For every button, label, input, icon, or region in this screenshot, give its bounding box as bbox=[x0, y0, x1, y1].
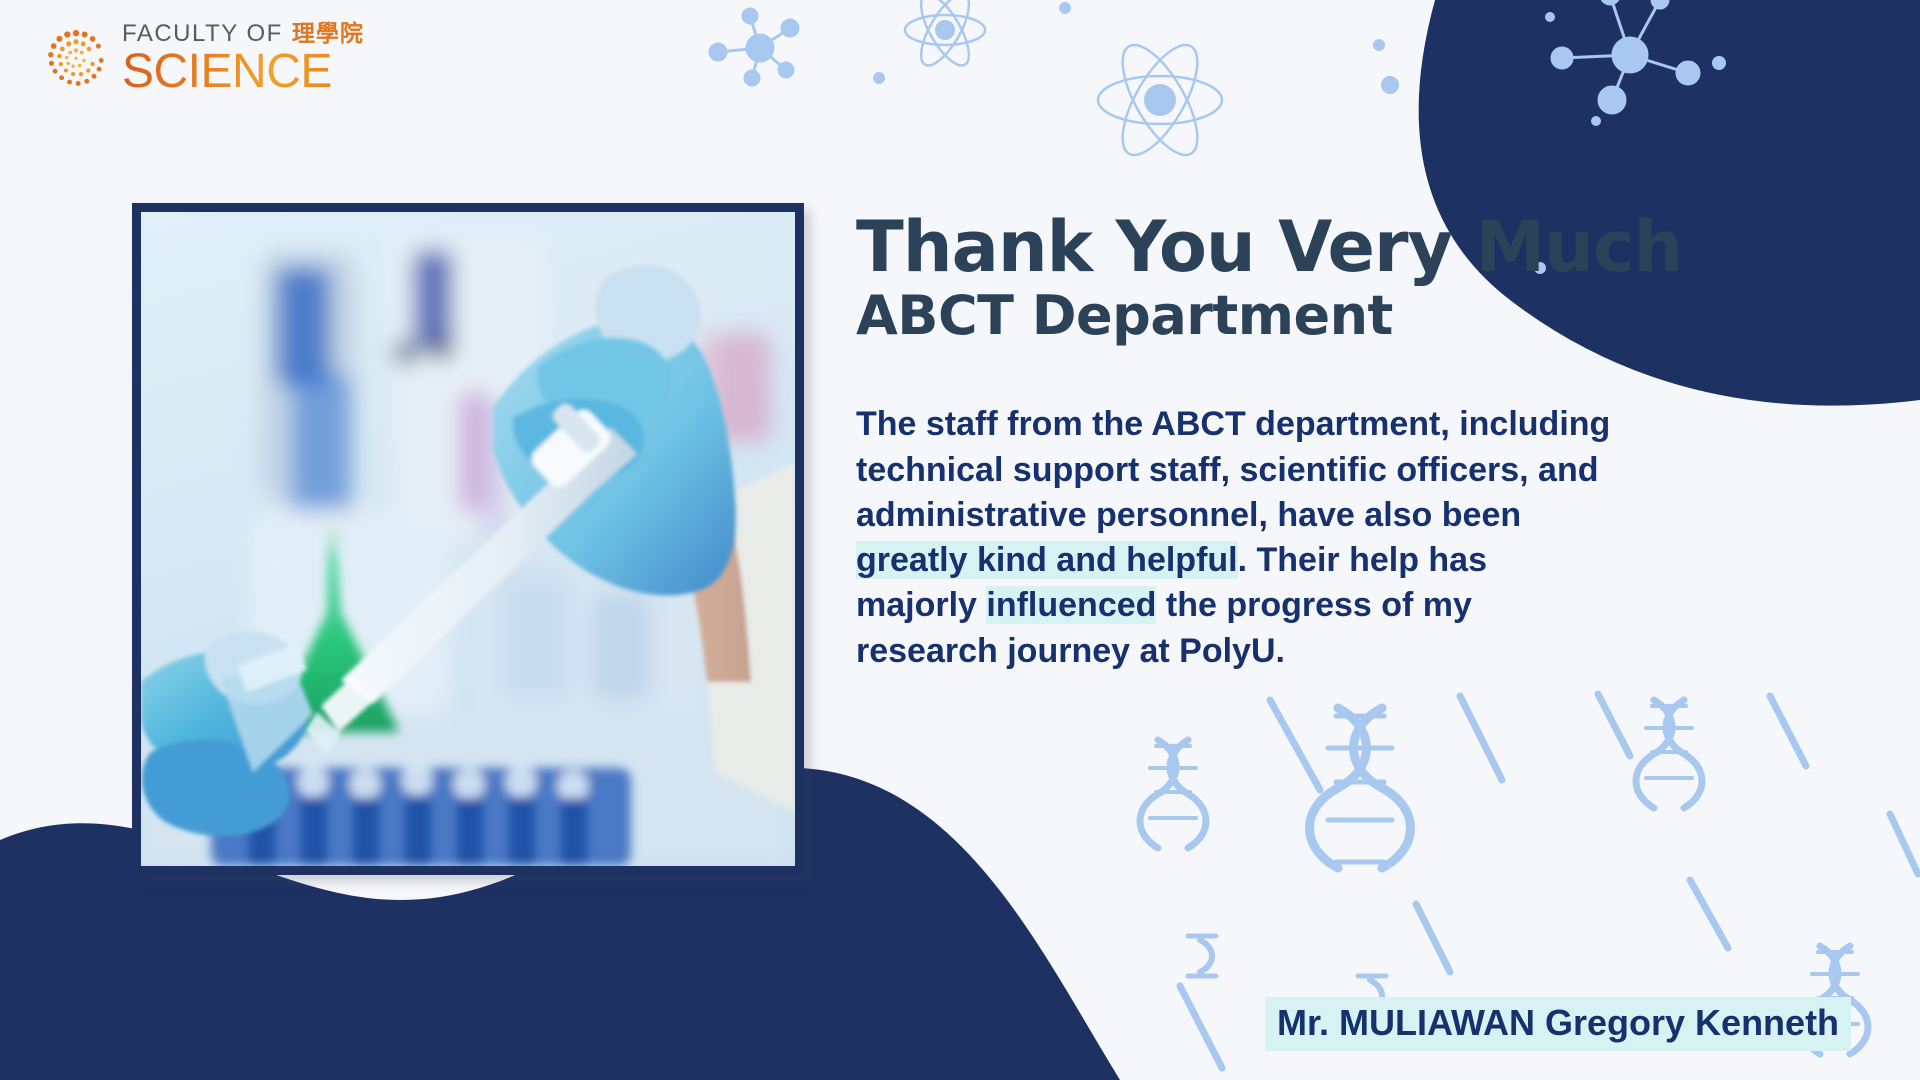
logo-chinese-label: 理學院 bbox=[292, 23, 364, 46]
attribution-name: Mr. MULIAWAN Gregory Kenneth bbox=[1265, 997, 1851, 1051]
atom-orbit-icon bbox=[885, 0, 1005, 90]
page-title: Thank You Very Much bbox=[856, 212, 1676, 282]
highlighted-phrase: greatly kind and helpful bbox=[856, 541, 1238, 579]
logo-science-label: SCIENCE bbox=[122, 48, 364, 96]
page-subtitle: ABCT Department bbox=[856, 286, 1676, 346]
atom-orbit-icon bbox=[1075, 15, 1245, 185]
testimonial-body: The staff from the ABCT department, incl… bbox=[856, 402, 1616, 673]
logo-wordmark: FACULTY OF 理學院 SCIENCE bbox=[122, 22, 364, 96]
lab-photo-illustration bbox=[141, 212, 795, 866]
testimonial-content: Thank You Very Much ABCT Department The … bbox=[856, 212, 1676, 674]
molecule-node-icon bbox=[1540, 0, 1760, 160]
highlighted-phrase: influenced bbox=[986, 586, 1156, 624]
logo-faculty-label: FACULTY OF bbox=[122, 22, 283, 46]
slide-canvas: FACULTY OF 理學院 SCIENCE bbox=[0, 0, 1920, 1080]
molecule-node-icon bbox=[690, 0, 1330, 140]
faculty-of-science-logo: FACULTY OF 理學院 SCIENCE bbox=[40, 22, 364, 96]
laboratory-pipette-photo bbox=[141, 212, 795, 866]
laboratory-photo-frame bbox=[132, 203, 804, 875]
science-spiral-dots-logomark bbox=[40, 23, 112, 95]
body-text-run: The staff from the ABCT department, incl… bbox=[856, 405, 1610, 533]
